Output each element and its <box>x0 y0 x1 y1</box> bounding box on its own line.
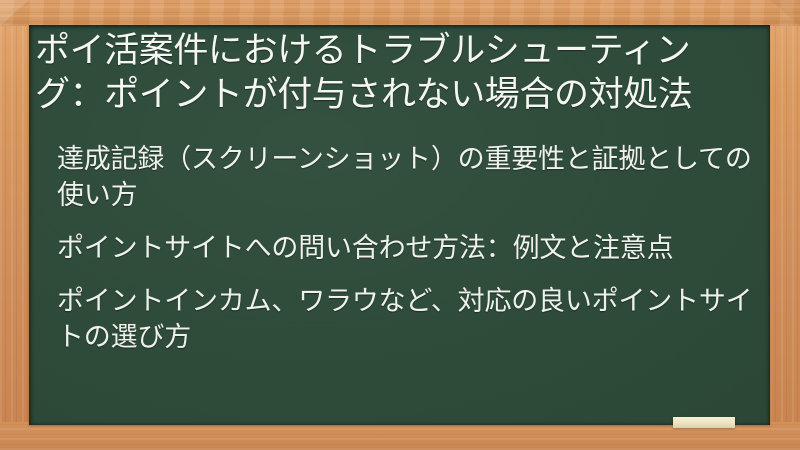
frame-miter-top-right <box>770 0 800 26</box>
chalkboard-slide: ポイ活案件におけるトラブルシューティング：ポイントが付与されない場合の対処法 達… <box>0 0 800 450</box>
topic-list: 達成記録（スクリーンショット）の重要性と証拠としての使い方 ポイントサイトへの問… <box>29 141 770 355</box>
chalk-ledge-piece <box>673 417 735 428</box>
frame-miter-top-left <box>0 0 29 26</box>
slide-title: ポイ活案件におけるトラブルシューティング：ポイントが付与されない場合の対処法 <box>29 25 770 117</box>
list-item: ポイントインカム、ワラウなど、対応の良いポイントサイトの選び方 <box>57 283 760 355</box>
wooden-frame-top-rail <box>0 0 800 26</box>
list-item: 達成記録（スクリーンショット）の重要性と証拠としての使い方 <box>57 141 760 213</box>
slide-content: ポイ活案件におけるトラブルシューティング：ポイントが付与されない場合の対処法 達… <box>29 25 770 355</box>
list-item: ポイントサイトへの問い合わせ方法：例文と注意点 <box>57 230 760 266</box>
